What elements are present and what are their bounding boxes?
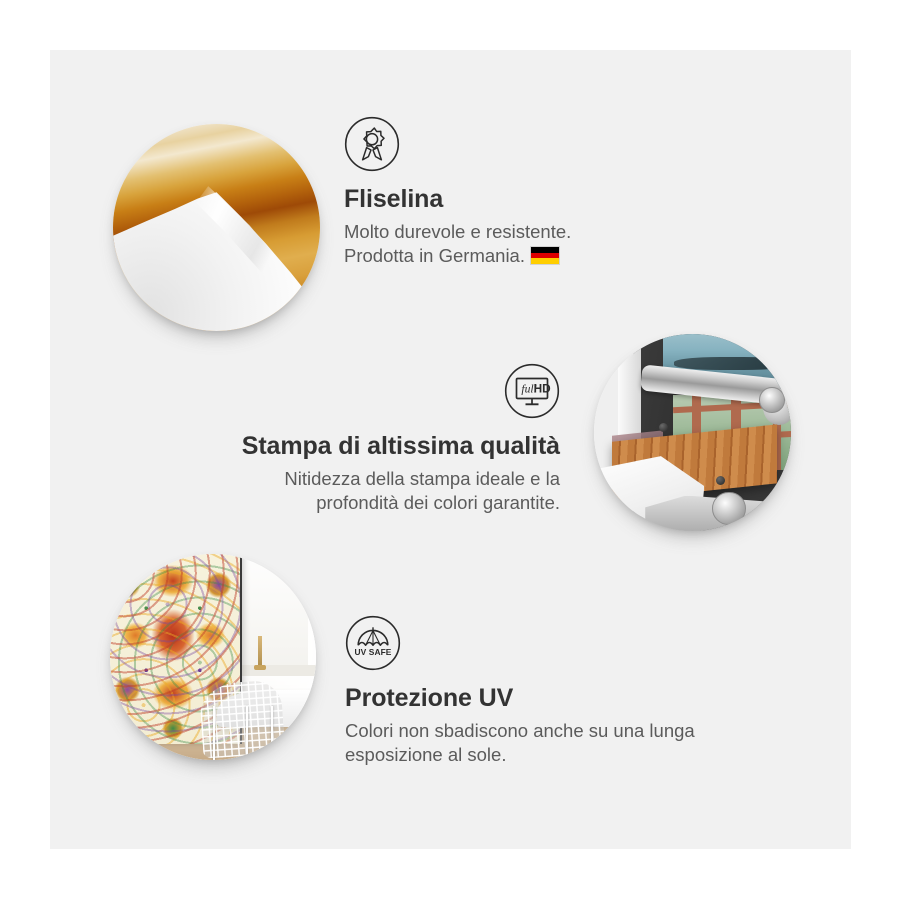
feature-title: Protezione UV bbox=[345, 684, 775, 714]
fullhd-monitor-icon: full HD bbox=[504, 363, 560, 419]
uv-safe-label: UV SAFE bbox=[355, 647, 392, 657]
feature-line-2: esposizione al sole. bbox=[345, 744, 506, 765]
feature-description: Colori non sbadiscono anche su una lunga… bbox=[345, 719, 775, 768]
printer-knob bbox=[716, 476, 725, 485]
feature-line-1: Nitidezza della stampa ideale e la bbox=[284, 468, 560, 489]
feature-description: Molto durevole e resistente. Prodotta in… bbox=[344, 220, 744, 269]
feature-line-2: Prodotta in Germania. bbox=[344, 245, 525, 266]
uv-safe-umbrella-icon: UV SAFE bbox=[345, 615, 401, 671]
feature-line-2: profondità dei colori garantite. bbox=[316, 492, 560, 513]
large-format-printer-photo bbox=[594, 334, 791, 531]
feature-block-quality: full HD Stampa di altissima qualità Niti… bbox=[170, 363, 560, 516]
printer-wheel bbox=[712, 492, 745, 525]
printer-knob bbox=[659, 423, 668, 432]
feature-title: Fliselina bbox=[344, 185, 744, 215]
interior-window-sill bbox=[229, 665, 316, 675]
feature-block-fliselina: Fliselina Molto durevole e resistente. P… bbox=[344, 116, 744, 269]
feature-line-1: Molto durevole e resistente. bbox=[344, 221, 571, 242]
interior-candlestick bbox=[258, 636, 262, 667]
uv-safe-umbrella-icon-wrap: UV SAFE bbox=[345, 615, 775, 671]
germany-flag bbox=[530, 246, 560, 265]
feature-infographic: Fliselina Molto durevole e resistente. P… bbox=[0, 0, 900, 900]
fullhd-label-bold: HD bbox=[534, 381, 552, 395]
award-ribbon-icon-wrap bbox=[344, 116, 744, 172]
printer-wheel bbox=[759, 387, 785, 413]
feature-title: Stampa di altissima qualità bbox=[170, 432, 560, 462]
printer-wheel bbox=[767, 488, 791, 521]
interior-window bbox=[238, 554, 308, 673]
peeling-wallpaper-photo bbox=[113, 124, 320, 331]
mandala-wallpaper-interior-photo bbox=[110, 554, 316, 760]
fullhd-monitor-icon-wrap: full HD bbox=[170, 363, 560, 419]
feature-line-1: Colori non sbadiscono anche su una lunga bbox=[345, 720, 695, 741]
feature-block-uv: UV SAFE Protezione UV Colori non sbadisc… bbox=[345, 615, 775, 768]
feature-description: Nitidezza della stampa ideale e la profo… bbox=[170, 467, 560, 516]
award-ribbon-icon bbox=[344, 116, 400, 172]
